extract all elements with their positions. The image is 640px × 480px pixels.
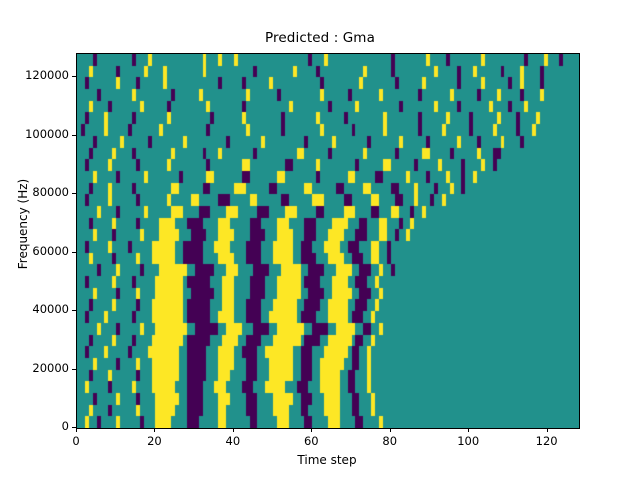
- x-axis-label: Time step: [76, 453, 578, 467]
- x-tick-label: 120: [536, 434, 558, 448]
- y-tick-mark: [72, 193, 76, 194]
- y-tick-label: 100000: [25, 127, 69, 141]
- x-tick-mark: [390, 428, 391, 432]
- y-tick-label: 80000: [32, 185, 69, 199]
- y-tick-mark: [72, 76, 76, 77]
- x-tick-mark: [547, 428, 548, 432]
- heatmap-axes: [76, 53, 580, 429]
- y-tick-label: 0: [62, 419, 69, 433]
- x-tick-label: 100: [457, 434, 479, 448]
- heatmap-canvas: [77, 54, 579, 428]
- matplotlib-figure: Predicted : Gma 020000400006000080000100…: [0, 0, 640, 480]
- x-tick-mark: [468, 428, 469, 432]
- x-tick-mark: [154, 428, 155, 432]
- y-tick-mark: [72, 369, 76, 370]
- y-tick-mark: [72, 310, 76, 311]
- x-tick-label: 80: [382, 434, 397, 448]
- y-tick-mark: [72, 252, 76, 253]
- x-tick-label: 0: [72, 434, 79, 448]
- y-axis-label: Frequency (Hz): [16, 114, 30, 334]
- page-title: Predicted : Gma: [0, 30, 640, 46]
- x-tick-label: 20: [147, 434, 162, 448]
- y-tick-label: 20000: [32, 361, 69, 375]
- x-tick-mark: [233, 428, 234, 432]
- y-tick-label: 60000: [32, 244, 69, 258]
- x-tick-label: 40: [226, 434, 241, 448]
- y-tick-label: 120000: [25, 68, 69, 82]
- x-tick-mark: [76, 428, 77, 432]
- x-tick-label: 60: [304, 434, 319, 448]
- y-tick-mark: [72, 135, 76, 136]
- y-tick-label: 40000: [32, 302, 69, 316]
- x-tick-mark: [311, 428, 312, 432]
